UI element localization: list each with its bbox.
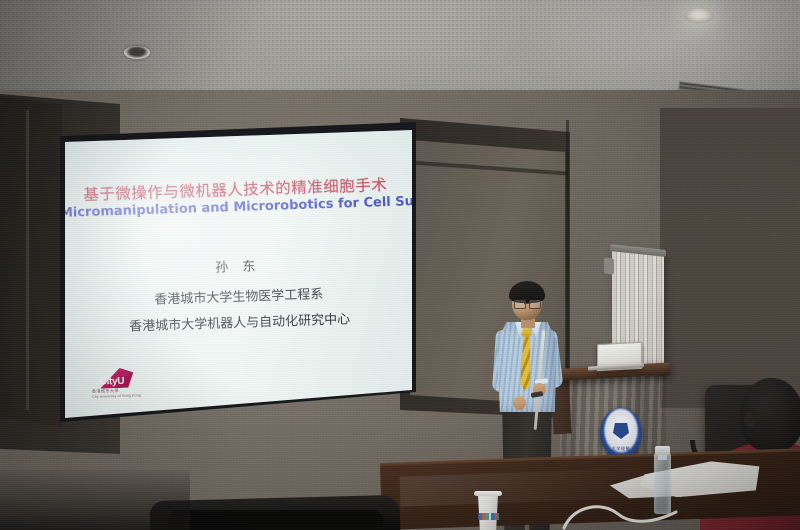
eyeglasses-lens-left [514,300,526,309]
slide-author-name: 孙 东 [62,250,414,281]
eyeglasses-icon [514,300,541,308]
radiator-valve [604,257,614,274]
cityu-logo: CityU 香港城市大學 City University of Hong Kon… [91,367,146,403]
presenter-left-hand [513,396,526,410]
foreground-shadow [0,470,190,530]
paper-cup-stripe-band [478,513,499,520]
emblem-label: 大学校徽 [600,446,642,452]
paper-coffee-cup [476,493,500,530]
left-column-seam [26,110,29,410]
slide: 基于微操作与微机器人技术的精准细胞手术 Micromanipulation an… [62,126,414,418]
cityu-logo-wordmark: CityU [99,376,124,388]
power-cable [560,498,680,530]
left-column [0,96,62,426]
audience-member-ear [744,412,755,428]
photo-scene: 基于微操作与微机器人技术的精准细胞手术 Micromanipulation an… [0,0,800,530]
foreground-chair-seat [168,510,383,530]
downlight-icon-1 [124,46,150,59]
slide-affiliation-1: 香港城市大学生物医学工程系 [63,280,414,311]
right-wall [660,108,800,408]
cityu-logo-english-name: City University of Hong Kong [92,393,141,399]
downlight-icon-3 [684,8,714,23]
eyeglasses-lens-right [529,300,541,309]
water-bottle-cap [655,446,670,455]
projection-screen: 基于微操作与微机器人技术的精准细胞手术 Micromanipulation an… [62,126,414,418]
slide-affiliation-2: 香港城市大学机器人与自动化研究中心 [63,306,414,337]
paper-cup-rim [474,491,502,496]
university-emblem-icon: 大学校徽 [600,408,642,458]
